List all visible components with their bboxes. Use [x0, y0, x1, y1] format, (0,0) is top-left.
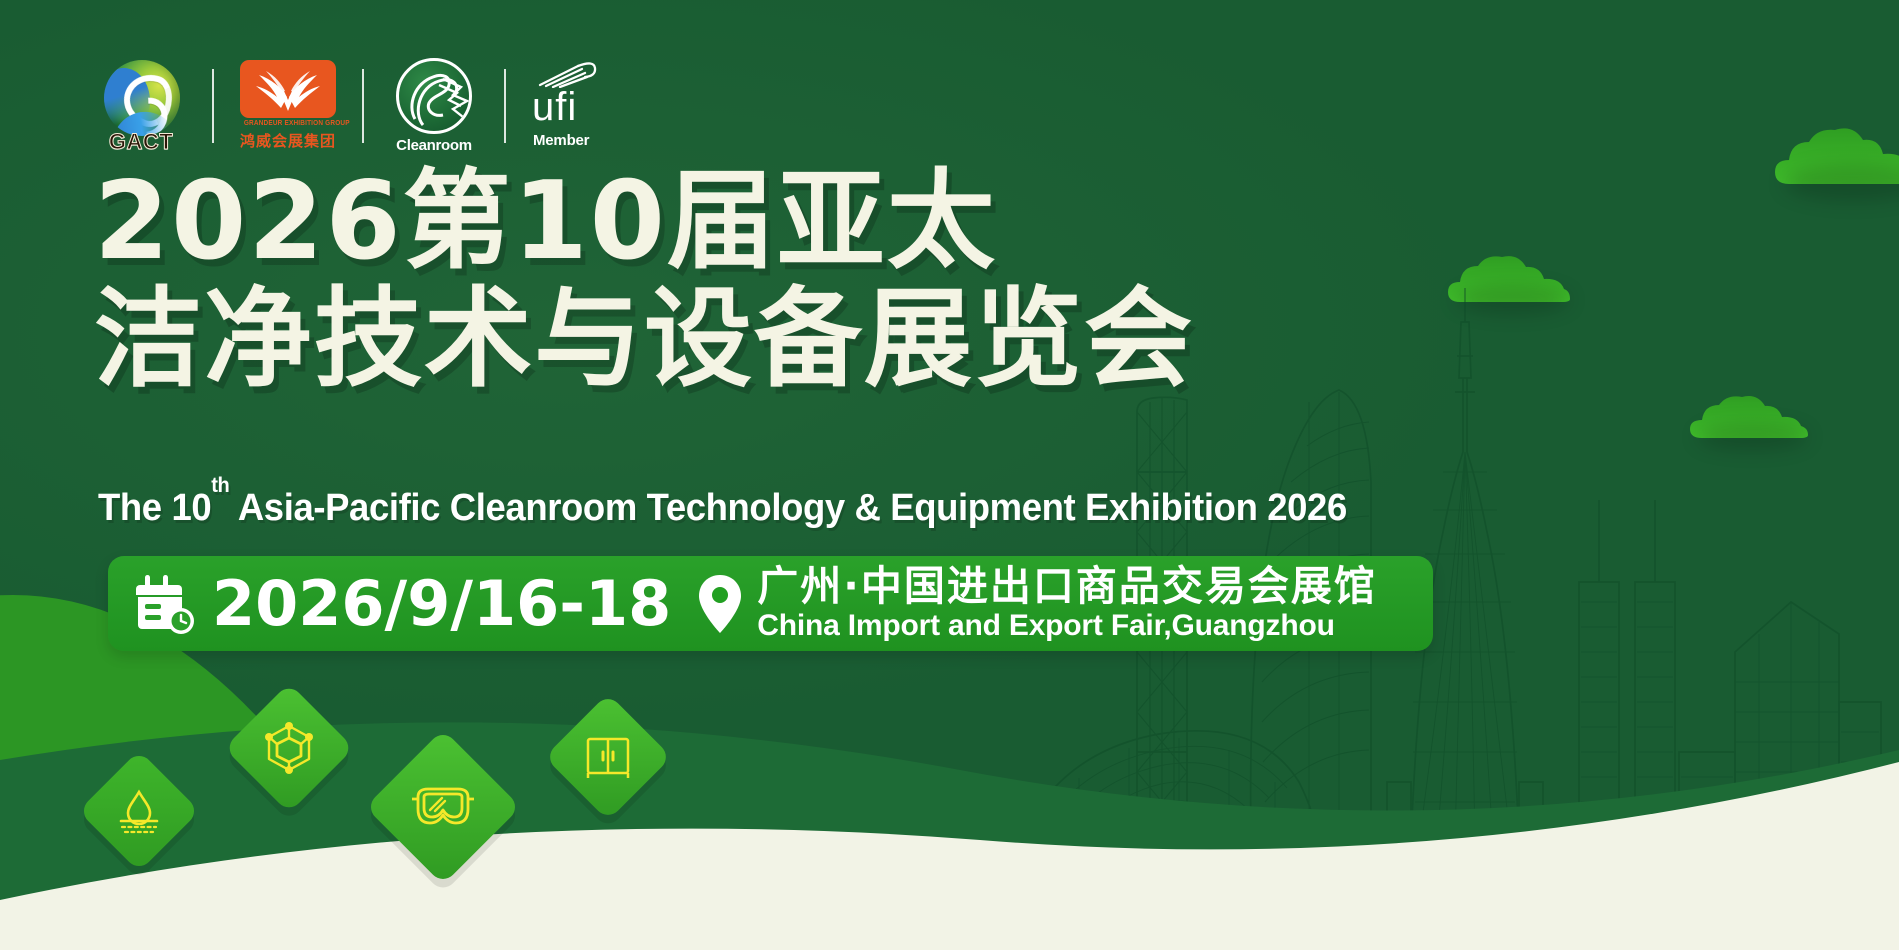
event-date: 2026/9/16-18 [212, 567, 671, 640]
grandeur-english-text: GRANDEUR EXHIBITION GROUP [244, 120, 332, 127]
venue-block: 广州·中国进出口商品交易会展馆 China Import and Export … [757, 565, 1377, 642]
ufi-wordmark: ufi [532, 88, 610, 126]
page-subtitle-english: The 10th Asia-Pacific Cleanroom Technolo… [98, 487, 1347, 530]
calendar-clock-icon [136, 573, 196, 635]
cloud-decoration-1 [1775, 120, 1899, 198]
subtitle-rest: Asia-Pacific Cleanroom Technology & Equi… [229, 487, 1346, 529]
exhibition-banner: GACT GRANDEUR EXHIBI [0, 0, 1899, 950]
map-pin-icon [697, 573, 743, 635]
venue-name-chinese: 广州·中国进出口商品交易会展馆 [757, 565, 1377, 608]
gact-logo-text: GACT [96, 129, 186, 155]
grandeur-chinese-text: 鸿威会展集团 [240, 130, 336, 151]
gact-sphere-icon [104, 60, 180, 136]
cleanroom-logo[interactable]: Cleanroom [390, 58, 478, 153]
logo-divider-3 [504, 69, 506, 143]
grandeur-wings-icon [240, 60, 336, 118]
subtitle-prefix: The 10 [98, 487, 211, 529]
subtitle-ordinal: th [211, 474, 229, 497]
cleanroom-logo-text: Cleanroom [390, 137, 478, 154]
grandeur-exhibition-group-logo[interactable]: GRANDEUR EXHIBITION GROUP 鸿威会展集团 [240, 58, 336, 153]
page-title-line1: 2026第10届亚太 [94, 168, 997, 276]
partner-logo-row: GACT GRANDEUR EXHIBI [96, 58, 610, 153]
ufi-logo[interactable]: ufi Member [532, 58, 610, 153]
page-title-line2: 洁净技术与设备展览会 [94, 286, 1194, 394]
logo-divider-2 [362, 69, 364, 143]
gact-logo[interactable]: GACT [96, 58, 186, 153]
event-info-bar: 2026/9/16-18 广州·中国进出口商品交易会展馆 China Impor… [108, 556, 1433, 651]
cleanroom-sphere-icon [396, 58, 472, 134]
venue-name-english: China Import and Export Fair,Guangzhou [757, 610, 1377, 642]
ufi-swoosh-icon [538, 58, 600, 88]
ufi-member-label: Member [533, 132, 589, 149]
logo-divider-1 [212, 69, 214, 143]
